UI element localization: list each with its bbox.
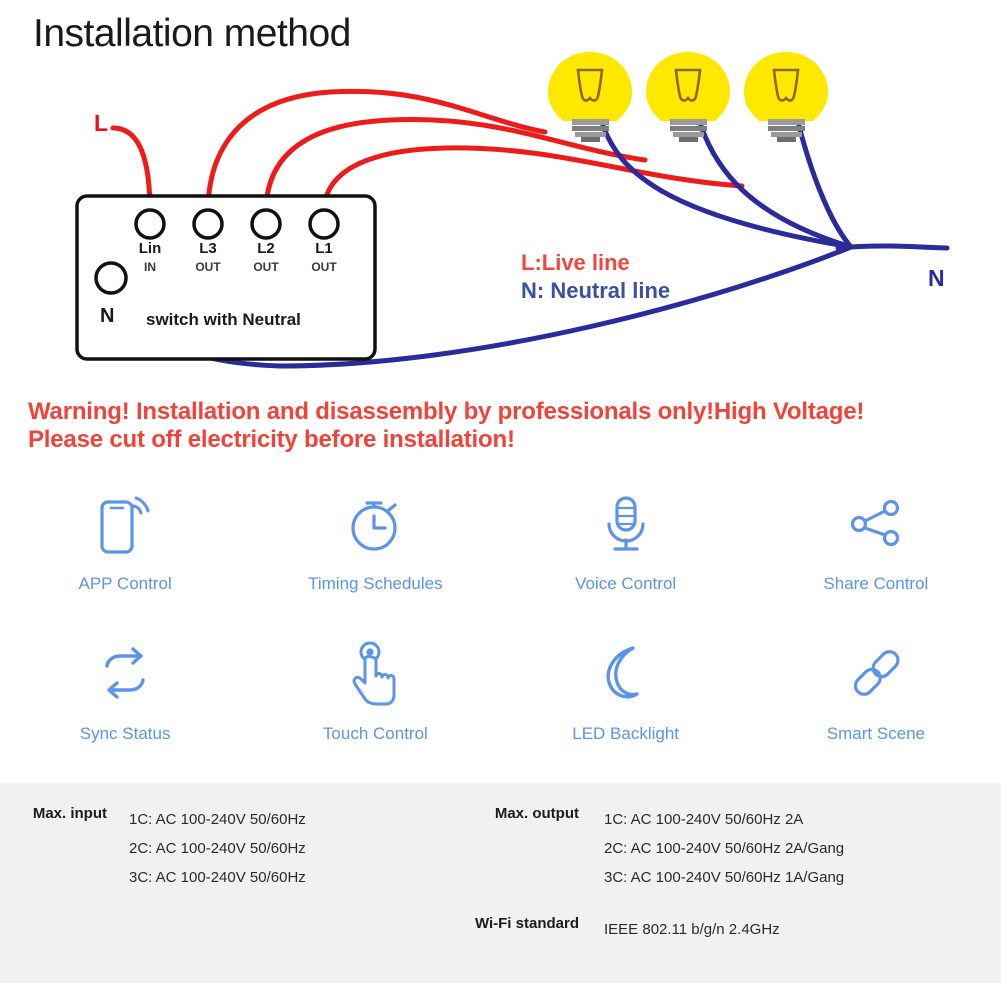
feature-share-control[interactable]: Share Control — [751, 478, 1001, 628]
switch-caption: switch with Neutral — [146, 310, 301, 330]
feature-label: APP Control — [79, 574, 172, 594]
spec-values: 1C: AC 100-240V 50/60Hz 2A 2C: AC 100-24… — [604, 805, 844, 892]
spec-column-right: Max. output 1C: AC 100-240V 50/60Hz 2A 2… — [460, 783, 1001, 944]
spec-values: 1C: AC 100-240V 50/60Hz 2C: AC 100-240V … — [129, 805, 306, 892]
terminal-label-lin: Lin — [126, 240, 174, 257]
terminal-l1 — [310, 210, 338, 238]
microphone-icon — [598, 486, 654, 560]
legend-neutral-line: N: Neutral line — [521, 278, 670, 304]
feature-voice-control[interactable]: Voice Control — [501, 478, 751, 628]
spec-value: 3C: AC 100-240V 50/60Hz 1A/Gang — [604, 863, 844, 892]
bulb-2-contact — [679, 137, 698, 142]
neutral-line-label: N — [928, 265, 945, 292]
bulb-1-base — [575, 132, 606, 137]
smartphone-wifi-icon — [94, 486, 156, 560]
bulb-2 — [646, 52, 730, 142]
spec-key: Wi-Fi standard — [460, 915, 579, 932]
spec-value: 2C: AC 100-240V 50/60Hz 2A/Gang — [604, 834, 844, 863]
wiring-diagram — [0, 0, 1001, 390]
stopwatch-icon — [343, 486, 407, 560]
feature-row-2: Sync Status Touch Control — [0, 628, 1001, 778]
terminal-sub-lin: IN — [126, 260, 174, 274]
spec-key: Max. output — [460, 805, 579, 822]
terminal-label-l1: L1 — [300, 240, 348, 257]
bulb-1 — [548, 52, 632, 142]
terminal-sub-l3: OUT — [184, 260, 232, 274]
spec-value: 3C: AC 100-240V 50/60Hz — [129, 863, 306, 892]
feature-touch-control[interactable]: Touch Control — [250, 628, 500, 778]
feature-grid: APP Control Timing Schedules — [0, 478, 1001, 778]
bulb-3-glass — [744, 52, 828, 121]
spec-value: IEEE 802.11 b/g/n 2.4GHz — [604, 915, 780, 944]
terminal-l2 — [252, 210, 280, 238]
bulb-3-base — [768, 126, 805, 131]
bulb-1-glass — [548, 52, 632, 121]
bulb-1-contact — [581, 137, 600, 142]
feature-row-1: APP Control Timing Schedules — [0, 478, 1001, 628]
terminal-l3 — [194, 210, 222, 238]
terminal-sub-l2: OUT — [242, 260, 290, 274]
installation-method-page: Installation method — [0, 0, 1001, 1001]
feature-sync-status[interactable]: Sync Status — [0, 628, 250, 778]
spec-row-wifi-standard: Wi-Fi standard IEEE 802.11 b/g/n 2.4GHz — [460, 915, 1001, 944]
spec-row-max-input: Max. input 1C: AC 100-240V 50/60Hz 2C: A… — [0, 805, 460, 892]
feature-label: Share Control — [823, 574, 928, 594]
spec-key: Max. input — [0, 805, 107, 822]
feature-app-control[interactable]: APP Control — [0, 478, 250, 628]
feature-timing-schedules[interactable]: Timing Schedules — [250, 478, 500, 628]
spec-values: IEEE 802.11 b/g/n 2.4GHz — [604, 915, 780, 944]
bulb-3-base — [768, 119, 805, 125]
feature-label: Timing Schedules — [308, 574, 443, 594]
bulb-1-base — [572, 126, 609, 131]
crescent-moon-icon — [597, 636, 655, 710]
sync-arrows-icon — [93, 636, 157, 710]
spec-value: 1C: AC 100-240V 50/60Hz — [129, 805, 306, 834]
spec-table: Max. input 1C: AC 100-240V 50/60Hz 2C: A… — [0, 783, 1001, 983]
terminal-label-l2: L2 — [242, 240, 290, 257]
feature-smart-scene[interactable]: Smart Scene — [751, 628, 1001, 778]
feature-label: Voice Control — [575, 574, 676, 594]
bulb-3-contact — [777, 137, 796, 142]
spec-value: 1C: AC 100-240V 50/60Hz 2A — [604, 805, 844, 834]
bulb-2-base — [673, 132, 704, 137]
live-line-label: L — [94, 110, 108, 137]
spec-column-left: Max. input 1C: AC 100-240V 50/60Hz 2C: A… — [0, 783, 460, 892]
neutral-wire-junction-outgoing — [838, 246, 947, 248]
warning-line-2: Please cut off electricity before instal… — [28, 426, 988, 454]
bulb-1-base — [572, 119, 609, 125]
bulb-3 — [744, 52, 828, 142]
feature-label: Smart Scene — [827, 724, 925, 744]
bulb-2-glass — [646, 52, 730, 121]
share-nodes-icon — [844, 486, 908, 560]
feature-label: Sync Status — [80, 724, 171, 744]
bulb-2-base — [670, 119, 707, 125]
link-chain-icon — [847, 636, 905, 710]
spec-row-max-output: Max. output 1C: AC 100-240V 50/60Hz 2A 2… — [460, 805, 1001, 892]
neutral-terminal-label: N — [100, 305, 114, 328]
terminal-sub-l1: OUT — [300, 260, 348, 274]
bulb-2-base — [670, 126, 707, 131]
terminal-label-l3: L3 — [184, 240, 232, 257]
warning-block: Warning! Installation and disassembly by… — [28, 398, 988, 454]
spec-value: 2C: AC 100-240V 50/60Hz — [129, 834, 306, 863]
feature-label: Touch Control — [323, 724, 428, 744]
legend-live-line: L:Live line — [521, 250, 630, 276]
feature-led-backlight[interactable]: LED Backlight — [501, 628, 751, 778]
warning-line-1: Warning! Installation and disassembly by… — [28, 398, 988, 426]
feature-label: LED Backlight — [572, 724, 679, 744]
touch-hand-icon — [345, 636, 405, 710]
terminal-lin — [136, 210, 164, 238]
terminal-n — [96, 263, 126, 293]
bulb-3-base — [771, 132, 802, 137]
